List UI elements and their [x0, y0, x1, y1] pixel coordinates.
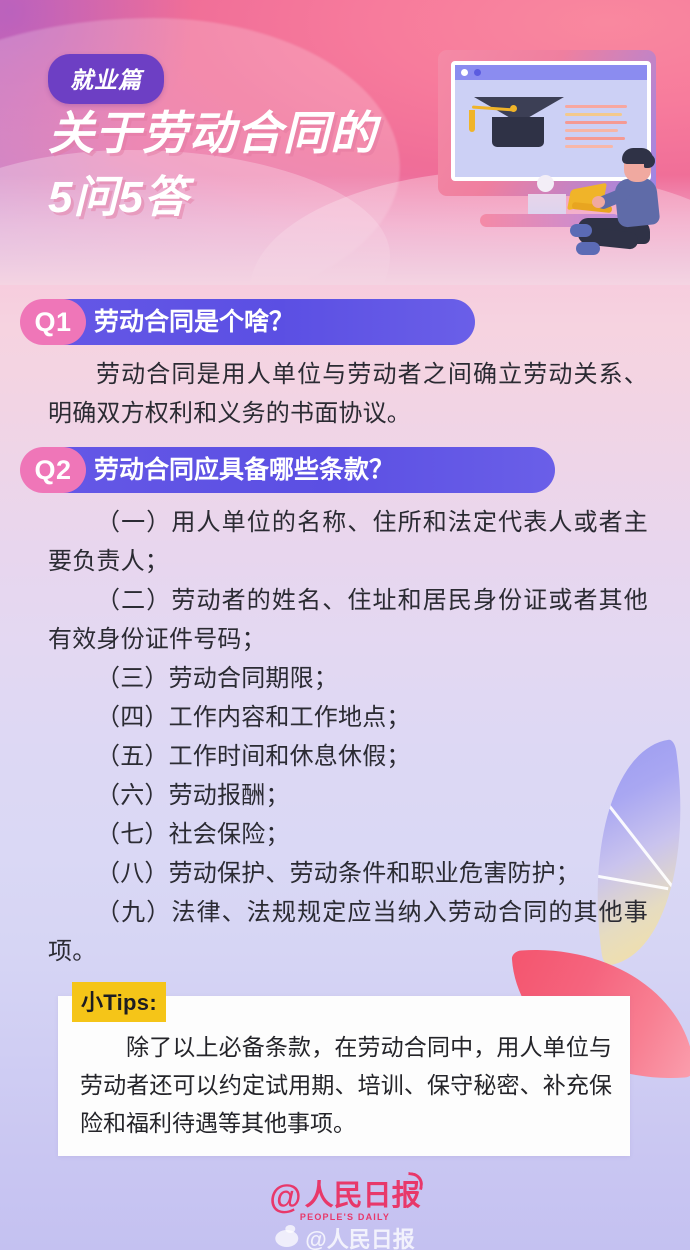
q2-clause-2: （二）劳动者的姓名、住址和居民身份证或者其他有效身份证件号码； — [48, 581, 648, 659]
tassel-knot — [510, 105, 517, 112]
window-dot-white-icon — [461, 69, 468, 76]
q1-badge: Q1 — [20, 299, 86, 345]
person-shoe-2 — [576, 242, 600, 255]
q2-clause-1: （一）用人单位的名称、住所和法定代表人或者主要负责人； — [48, 503, 648, 581]
question-header-q2: 劳动合同应具备哪些条款？ Q2 — [0, 447, 690, 493]
window-dot-blue-icon — [474, 69, 481, 76]
q2-clause-7: （七）社会保险； — [48, 815, 648, 854]
person-hand — [592, 196, 605, 208]
tassel-end — [469, 110, 475, 132]
weibo-icon — [275, 1230, 298, 1247]
section-badge: 就业篇 — [48, 54, 164, 104]
q2-badge: Q2 — [20, 447, 86, 493]
browser-title-bar — [455, 65, 647, 80]
question-header-q1: 劳动合同是个啥？ Q1 — [0, 299, 690, 345]
q1-answer-paragraph: 劳动合同是用人单位与劳动者之间确立劳动关系、明确双方权利和义务的书面协议。 — [48, 355, 648, 433]
q2-clause-9: （九）法律、法规规定应当纳入劳动合同的其他事项。 — [48, 893, 648, 971]
q1-title: 劳动合同是个啥？ — [94, 299, 294, 345]
at-sign-icon: @ — [269, 1180, 301, 1213]
person-illustration — [568, 146, 678, 266]
q2-clause-8: （八）劳动保护、劳动条件和职业危害防护； — [48, 854, 648, 893]
logo-chinese-text: 人民日报 — [305, 1182, 421, 1211]
q2-clause-4: （四）工作内容和工作地点； — [48, 698, 648, 737]
header-banner: 就业篇 关于劳动合同的 5问5答 — [0, 0, 690, 285]
q2-clause-5: （五）工作时间和休息休假； — [48, 737, 648, 776]
graduation-cap-base — [492, 117, 544, 147]
person-hair-side — [644, 154, 655, 168]
poster-title-line2: 5问5答 — [48, 172, 189, 224]
header-illustration — [420, 28, 690, 278]
weibo-watermark: @人民日报 — [275, 1222, 414, 1250]
logo-english-text: PEOPLE'S DAILY — [300, 1212, 390, 1222]
tips-body-text: 除了以上必备条款，在劳动合同中，用人单位与劳动者还可以约定试用期、培训、保守秘密… — [80, 1029, 612, 1143]
person-shoe-1 — [570, 224, 592, 237]
monitor-neck — [528, 194, 566, 216]
tips-label: 小Tips: — [72, 982, 166, 1022]
monitor-indicator-icon — [537, 175, 554, 192]
footer: @ 人民日报 PEOPLE'S DAILY @人民日报 — [0, 1178, 690, 1250]
q2-title: 劳动合同应具备哪些条款？ — [94, 447, 394, 493]
q2-clause-6: （六）劳动报酬； — [48, 776, 648, 815]
watermark-handle: @人民日报 — [305, 1222, 414, 1250]
q2-clause-3: （三）劳动合同期限； — [48, 659, 648, 698]
signal-wave-icon — [407, 1172, 425, 1190]
poster-title-line1: 关于劳动合同的 — [48, 106, 377, 160]
peoples-daily-logo: @ 人民日报 — [269, 1180, 420, 1213]
poster-root: 就业篇 关于劳动合同的 5问5答 劳动合同是个啥？ Q1 劳动合同是用人单位与劳… — [0, 0, 690, 1250]
